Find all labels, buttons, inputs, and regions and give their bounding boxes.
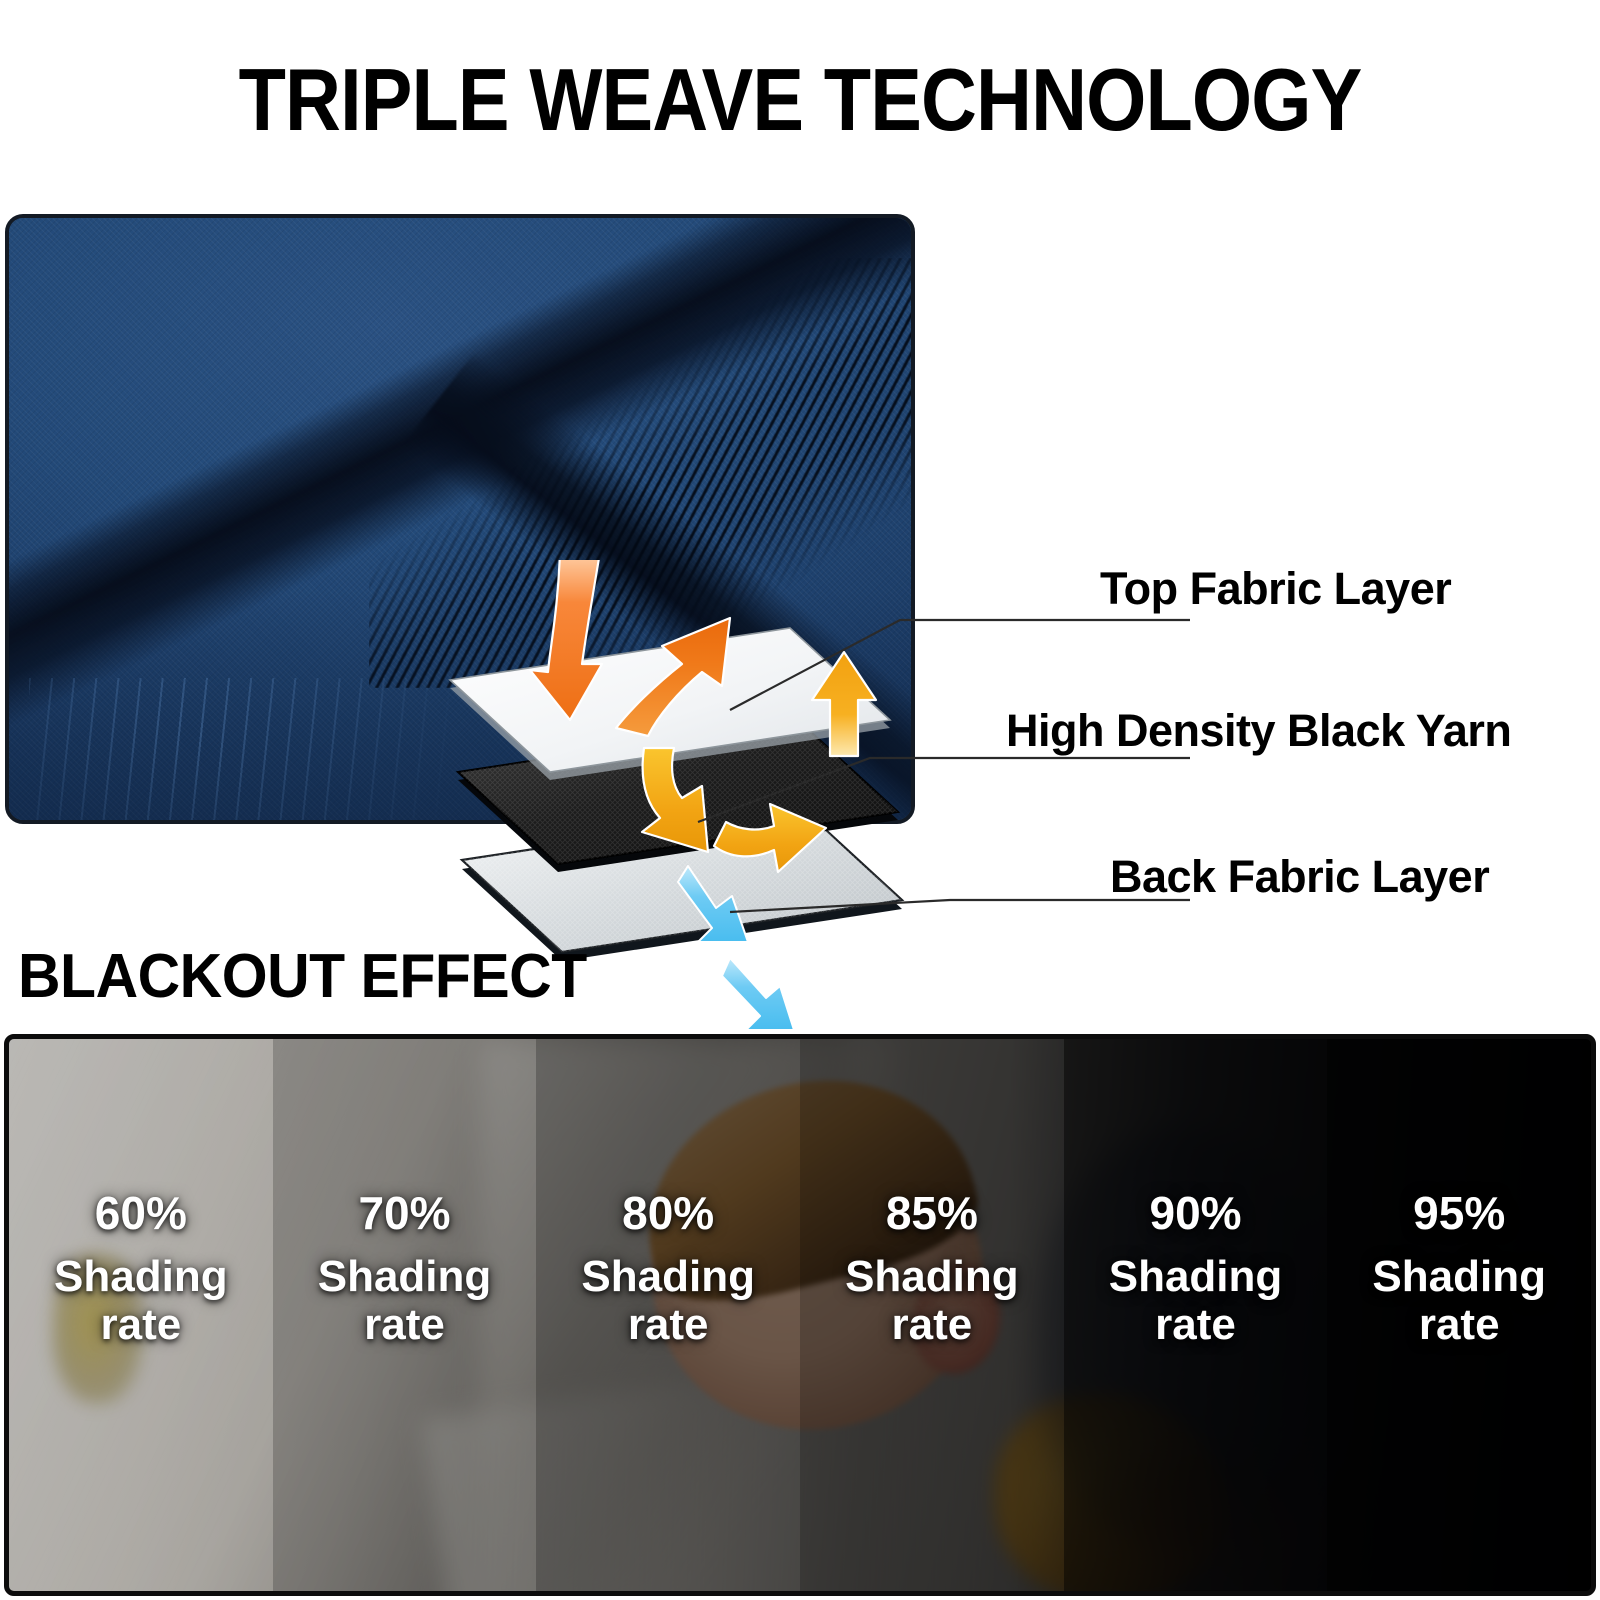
shading-panel-70: 70% Shading rate — [273, 1039, 537, 1591]
shading-veil-80 — [536, 1039, 800, 1591]
shading-panel-95: 95% Shading rate — [1327, 1039, 1591, 1591]
shading-rate-panels: 60% Shading rate 70% Shading rate 80% Sh… — [9, 1039, 1591, 1591]
layer-label-top-fabric: Top Fabric Layer — [1100, 564, 1451, 614]
layer-label-high-density-black-yarn: High Density Black Yarn — [1006, 706, 1511, 756]
blackout-effect-heading: BLACKOUT EFFECT — [18, 942, 587, 1012]
shading-panel-85: 85% Shading rate — [800, 1039, 1064, 1591]
shading-panel-80: 80% Shading rate — [536, 1039, 800, 1591]
shading-veil-60 — [9, 1039, 273, 1591]
blackout-comparison-strip: 60% Shading rate 70% Shading rate 80% Sh… — [4, 1034, 1596, 1596]
page-title: TRIPLE WEAVE TECHNOLOGY — [96, 52, 1504, 148]
shading-veil-70 — [273, 1039, 537, 1591]
shading-panel-60: 60% Shading rate — [9, 1039, 273, 1591]
shading-veil-95 — [1327, 1039, 1591, 1591]
shading-veil-90 — [1064, 1039, 1328, 1591]
layer-label-back-fabric: Back Fabric Layer — [1110, 852, 1489, 902]
shading-panel-90: 90% Shading rate — [1064, 1039, 1328, 1591]
infographic-page: TRIPLE WEAVE TECHNOLOGY — [0, 0, 1600, 1600]
shading-veil-85 — [800, 1039, 1064, 1591]
